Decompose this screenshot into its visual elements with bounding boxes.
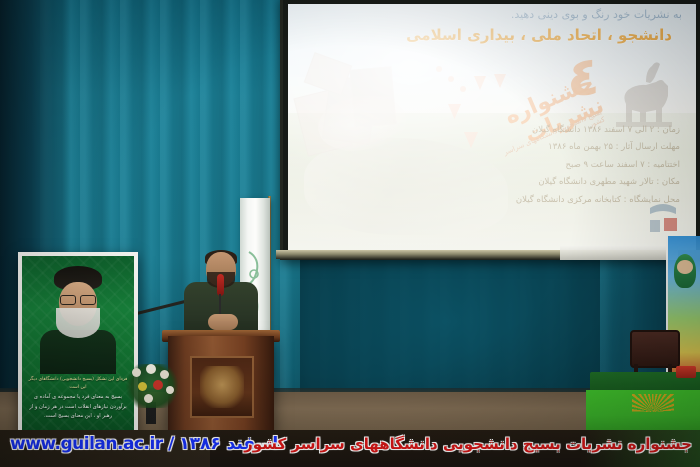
caption-separator: / [168, 434, 174, 454]
portrait-figure [34, 262, 120, 370]
slide-title: دانشجو ، اتحاد ملی ، بیداری اسلامی [370, 26, 672, 44]
caption-left-group: www.guilan.ac.ir / اسفند ۱۳۸۶ [10, 434, 280, 454]
flower-arrangement [126, 358, 178, 416]
poster-text-block: فردای این تشکل (بسیج دانشجویی) دانشگاهای… [28, 376, 128, 422]
site-url[interactable]: www.guilan.ac.ir [10, 434, 163, 454]
slide-info-block: زمان : ۲ الی ۷ اسفند ۱۳۸۶ دانشگاه گیلان … [329, 122, 680, 209]
caption-event-title: جشنواره نشریات بسیج دانشجویی دانشگاههای … [244, 435, 692, 453]
festival-logo-icon [646, 200, 680, 236]
slide-info-line: محل نمایشگاه : کتابخانه مرکزی دانشگاه گی… [329, 192, 680, 209]
slide-info-line: مکان : تالار شهید مطهری دانشگاه گیلان [329, 174, 680, 191]
podium-emblem-icon [200, 366, 244, 408]
projection-screen: به نشریات خود رنگ و بوی دینی دهید. دانشج… [288, 4, 696, 252]
slide-info-line: مهلت ارسال آثار : ۲۵ بهمن ماه ۱۳۸۶ [329, 139, 680, 156]
wooden-podium [168, 336, 274, 432]
chair-back [630, 330, 680, 368]
slide-info-line: زمان : ۲ الی ۷ اسفند ۱۳۸۶ دانشگاه گیلان [329, 122, 680, 139]
banner-face [677, 260, 693, 274]
caption-bar: www.guilan.ac.ir / اسفند ۱۳۸۶ جشنواره نش… [0, 430, 700, 467]
speaker-hands [208, 314, 238, 330]
projection-screen-frame: به نشریات خود رنگ و بوی دینی دهید. دانشج… [280, 0, 700, 260]
leader-portrait-poster: فردای این تشکل (بسیج دانشجویی) دانشگاهای… [18, 252, 138, 436]
slide-top-line: به نشریات خود رنگ و بوی دینی دهید. [364, 8, 682, 21]
gift-box [676, 366, 696, 378]
glasses-icon [60, 295, 96, 303]
portrait-beard [56, 308, 100, 338]
speaker-person [182, 252, 260, 338]
whiteboard-edge [560, 246, 678, 260]
microphone-icon [217, 274, 224, 296]
slide-info-line: اختتامیه : ۷ اسفند ساعت ۹ صبح [329, 157, 680, 174]
podium-panel [190, 356, 254, 418]
photograph-stage-scene: به نشریات خود رنگ و بوی دینی دهید. دانشج… [0, 0, 700, 467]
tablecloth-script [594, 400, 698, 430]
poster-headline: فردای این تشکل (بسیج دانشجویی) دانشگاهای… [28, 376, 128, 393]
poster-body: بسیج به معنای فرد یا مجموعه ی آماده ی بر… [29, 394, 126, 419]
